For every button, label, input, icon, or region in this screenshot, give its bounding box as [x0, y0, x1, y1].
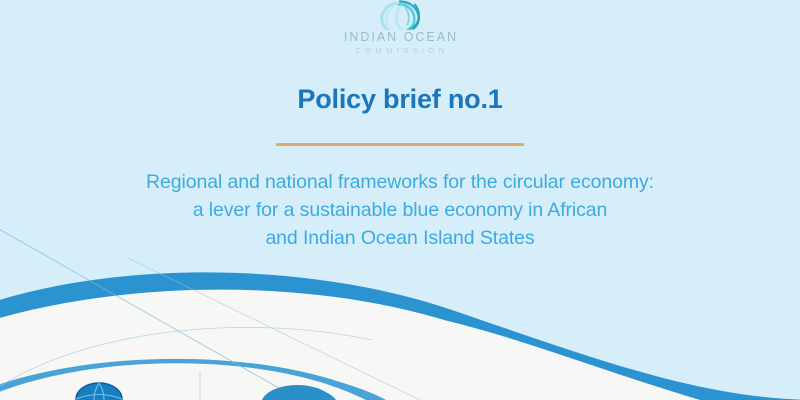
page-title: Policy brief no.1 — [0, 84, 800, 115]
cover-content: INDIAN OCEAN COMMISSION Policy brief no.… — [0, 0, 800, 400]
logo-block: INDIAN OCEAN COMMISSION — [0, 0, 800, 54]
logo-wordmark: INDIAN OCEAN COMMISSION — [0, 31, 800, 54]
subtitle-line-3: and Indian Ocean Island States — [0, 224, 800, 252]
subtitle-line-2: a lever for a sustainable blue economy i… — [0, 196, 800, 224]
title-divider — [276, 143, 524, 146]
subtitle-line-1: Regional and national frameworks for the… — [0, 168, 800, 196]
policy-brief-cover: INDIAN OCEAN COMMISSION Policy brief no.… — [0, 0, 800, 400]
logo-organisation-subname: COMMISSION — [0, 47, 800, 55]
logo-organisation-name: INDIAN OCEAN — [0, 31, 800, 44]
indian-ocean-commission-swirl-logo — [368, 0, 432, 30]
page-subtitle: Regional and national frameworks for the… — [0, 168, 800, 252]
